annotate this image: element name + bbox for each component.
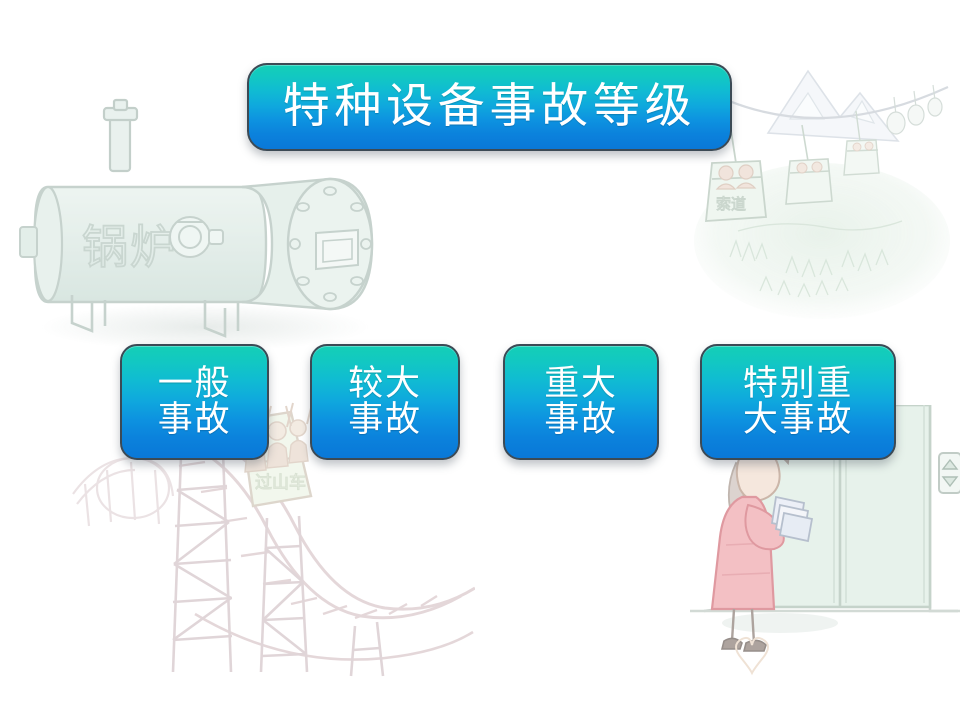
slide-canvas: 锅炉 — [0, 0, 960, 720]
svg-text:索道: 索道 — [716, 196, 746, 213]
svg-text:过山车: 过山车 — [255, 473, 306, 492]
accident-level-major[interactable]: 重大 事故 — [503, 344, 659, 460]
accident-level-general[interactable]: 一般 事故 — [120, 344, 269, 460]
accident-level-extraordinary[interactable]: 特别重 大事故 — [700, 344, 896, 460]
svg-text:锅炉: 锅炉 — [82, 222, 178, 273]
accident-level-large[interactable]: 较大 事故 — [310, 344, 460, 460]
page-title: 特种设备事故等级 — [247, 63, 732, 151]
